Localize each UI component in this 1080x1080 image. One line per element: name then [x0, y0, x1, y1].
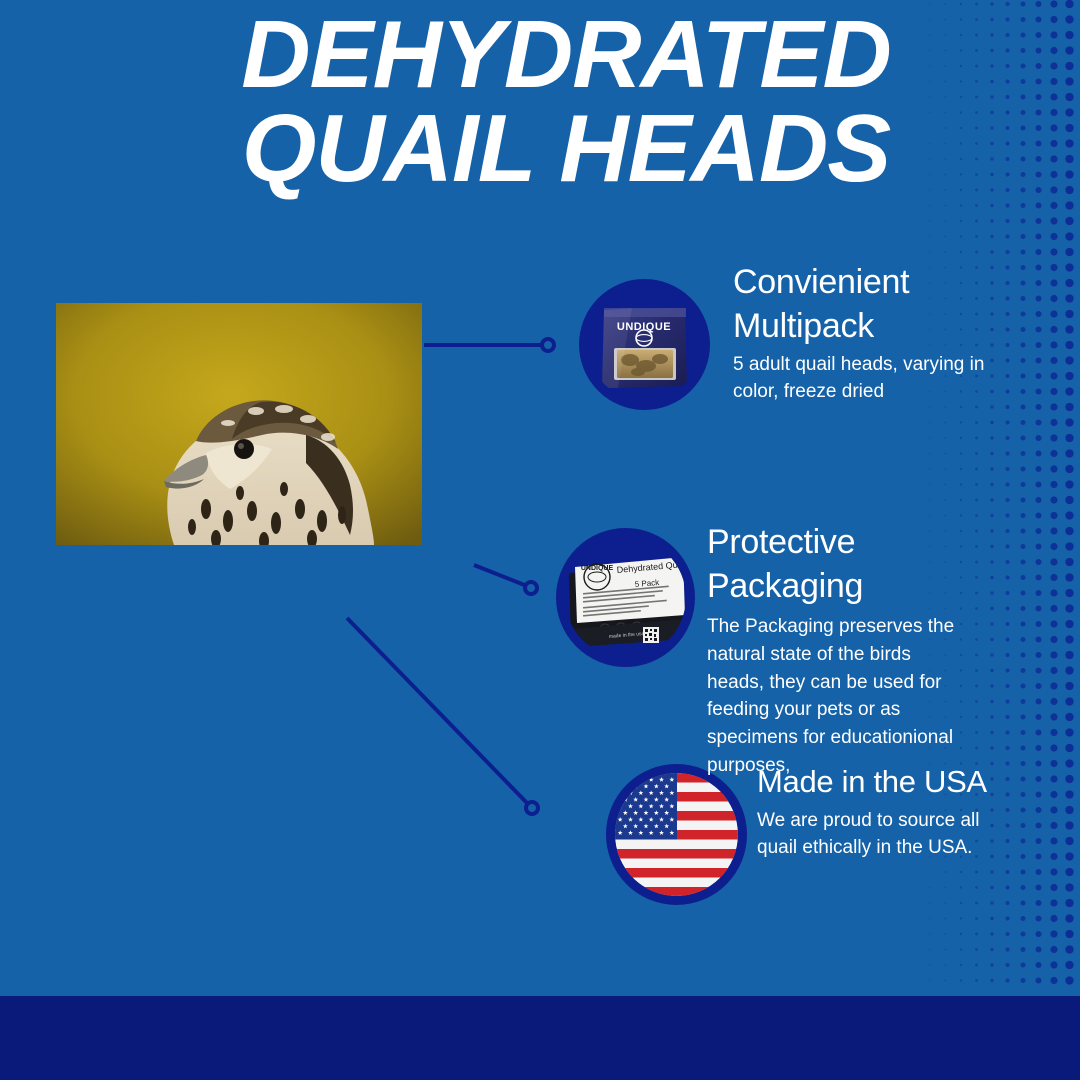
connector-endpoint-1	[542, 339, 554, 351]
footer-bar	[0, 996, 1080, 1080]
usa-flag-icon	[606, 764, 747, 905]
connector-line-2	[474, 565, 527, 586]
poster-canvas: DEHYDRATED QUAIL HEADS	[0, 0, 1080, 1080]
connector-line-3	[347, 618, 528, 804]
feature-block-made-in-usa: Made in the USA We are proud to source a…	[757, 763, 1007, 862]
feature-block-packaging: Protective Packaging The Packaging prese…	[707, 521, 969, 779]
label-illustration: UNDIQUE Dehydrated Quail 5 Pack	[565, 537, 686, 658]
feature-heading: Protective Packaging	[707, 521, 969, 608]
page-title: DEHYDRATED QUAIL HEADS	[136, 8, 996, 196]
label-brand-text: UNDIQUE	[581, 565, 614, 572]
feature-body: 5 adult quail heads, varying in color, f…	[733, 352, 985, 406]
product-label-icon: UNDIQUE Dehydrated Quail 5 Pack	[556, 528, 695, 667]
pouch-illustration: UNDIQUE	[588, 288, 701, 401]
title-line-2: QUAIL HEADS	[136, 102, 996, 196]
connector-endpoint-3	[526, 802, 538, 814]
feature-heading: Convienient Multipack	[733, 261, 985, 348]
feature-body: The Packaging preserves the natural stat…	[707, 613, 969, 779]
quail-photo-svg	[56, 303, 422, 545]
feature-heading: Made in the USA	[757, 763, 1007, 800]
feature-block-multipack: Convienient Multipack 5 adult quail head…	[733, 261, 985, 406]
quail-photo	[56, 303, 422, 545]
connector-endpoint-2	[525, 582, 537, 594]
feature-body: We are proud to source all quail ethical…	[757, 808, 1007, 862]
flag-illustration	[615, 773, 738, 896]
title-line-1: DEHYDRATED	[241, 1, 891, 108]
product-pouch-icon: UNDIQUE	[579, 279, 710, 410]
